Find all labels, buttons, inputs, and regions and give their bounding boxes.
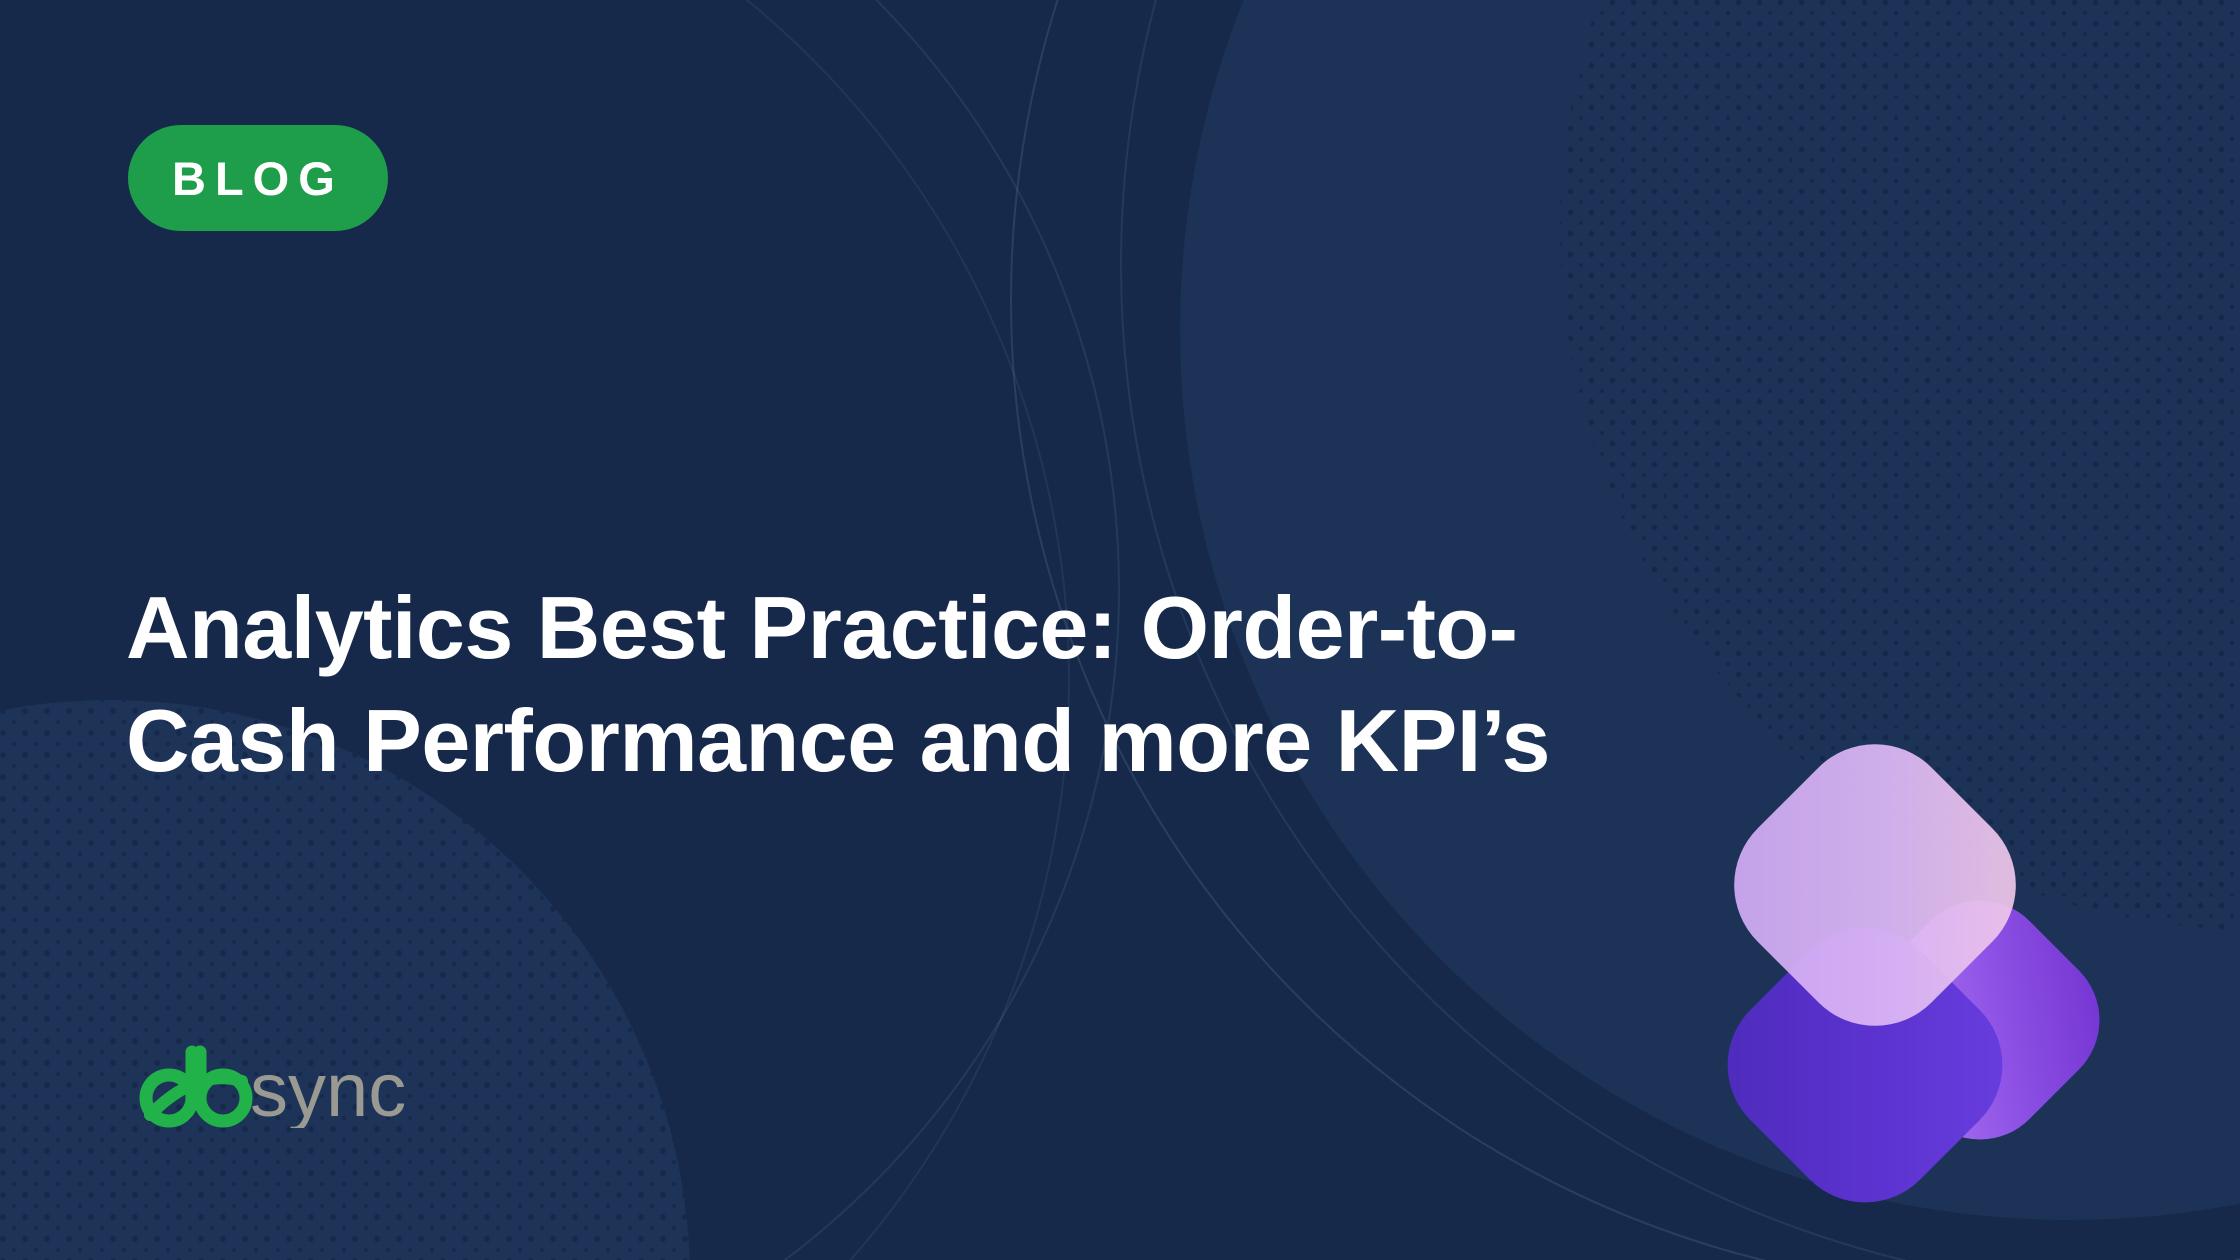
page-title-line-1: Analytics Best Practice: Order-to- xyxy=(126,572,1686,685)
db-infinity-mark xyxy=(146,1052,246,1121)
dbsync-wordmark-text: sync xyxy=(250,1048,406,1128)
blog-hero-banner: BLOG Analytics Best Practice: Order-to- … xyxy=(0,0,2240,1260)
blog-badge-label: BLOG xyxy=(172,155,344,202)
dbsync-logo[interactable]: sync xyxy=(128,1042,418,1128)
overlapping-squircles-graphic xyxy=(1680,690,2200,1260)
dbsync-logo-svg: sync xyxy=(128,1042,418,1128)
blog-badge[interactable]: BLOG xyxy=(128,125,388,231)
page-title-line-2: Cash Performance and more KPI’s xyxy=(126,685,1686,798)
squircles-svg xyxy=(1680,690,2200,1260)
page-title: Analytics Best Practice: Order-to- Cash … xyxy=(126,572,1686,797)
